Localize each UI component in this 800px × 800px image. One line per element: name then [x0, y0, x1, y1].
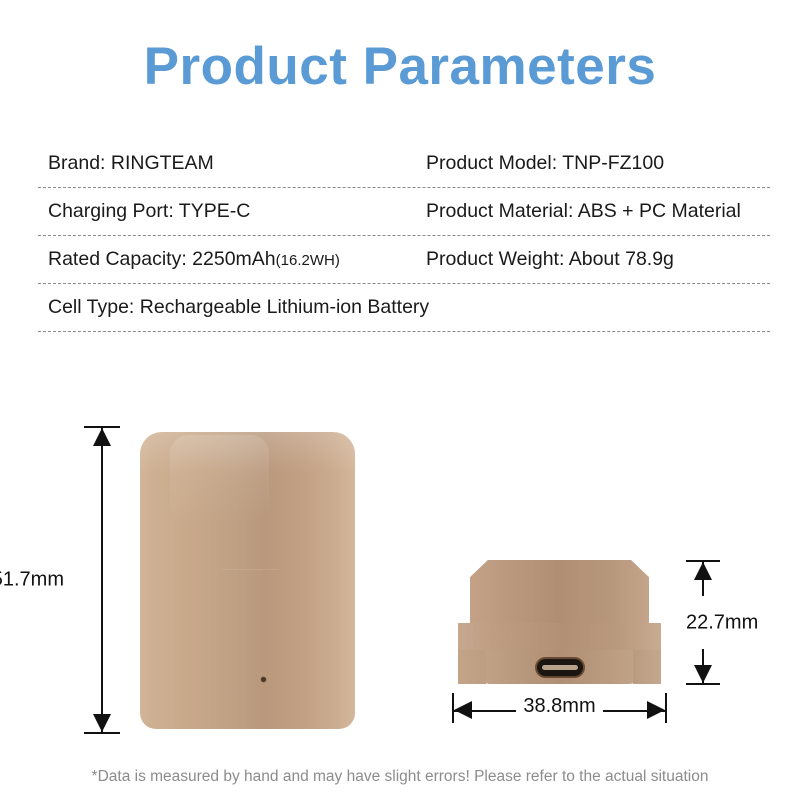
mold-seam	[222, 569, 278, 570]
arrow-up-icon	[694, 562, 712, 580]
dimension-line	[101, 428, 103, 732]
mold-notch	[236, 690, 272, 712]
highlight-glare	[170, 435, 269, 524]
arrow-down-icon	[694, 665, 712, 683]
dimension-depth-label: 22.7mm	[686, 611, 758, 634]
battery-bottom-view	[452, 560, 667, 685]
dimension-height-label: 51.7mm	[0, 569, 64, 592]
table-row: Charging Port: TYPE-C Product Material: …	[38, 188, 770, 236]
product-image-area: 51.7mm 38.8mm 22.7mm	[0, 408, 800, 748]
spec-cell-type: Cell Type: Rechargeable Lithium-ion Batt…	[38, 296, 770, 319]
spec-rated-capacity-wh: (16.2WH)	[276, 252, 340, 269]
footer-disclaimer: *Data is measured by hand and may have s…	[0, 768, 800, 786]
table-row: Cell Type: Rechargeable Lithium-ion Batt…	[38, 284, 770, 332]
spec-brand: Brand: RINGTEAM	[38, 152, 422, 175]
dimension-cap-right	[665, 693, 667, 723]
spec-charging-port: Charging Port: TYPE-C	[38, 200, 422, 223]
page-title: Product Parameters	[0, 36, 800, 97]
pinhole-icon	[261, 677, 266, 682]
spec-table: Brand: RINGTEAM Product Model: TNP-FZ100…	[38, 140, 770, 332]
spec-product-model: Product Model: TNP-FZ100	[422, 152, 770, 175]
dimension-width-label: 38.8mm	[517, 695, 601, 718]
usb-c-port-inner	[542, 665, 578, 670]
arrow-up-icon	[93, 428, 111, 446]
dimension-depth: 22.7mm	[680, 560, 776, 685]
table-row: Rated Capacity: 2250mAh(16.2WH) Product …	[38, 236, 770, 284]
dimension-cap-bottom	[686, 683, 720, 685]
housing-upper	[470, 560, 649, 626]
battery-front-view	[140, 432, 355, 729]
housing-midband	[458, 623, 661, 652]
usb-c-port-icon	[537, 659, 583, 676]
dimension-cap-bottom	[84, 732, 120, 734]
arrow-right-icon	[647, 701, 665, 719]
arrow-left-icon	[454, 701, 472, 719]
table-row: Brand: RINGTEAM Product Model: TNP-FZ100	[38, 140, 770, 188]
spec-rated-capacity: Rated Capacity: 2250mAh(16.2WH)	[38, 248, 422, 271]
spec-product-weight: Product Weight: About 78.9g	[422, 248, 770, 271]
spec-rated-capacity-value: Rated Capacity: 2250mAh	[48, 248, 276, 271]
dimension-width: 38.8mm	[452, 693, 667, 727]
spec-product-material: Product Material: ABS + PC Material	[422, 200, 770, 223]
dimension-height: 51.7mm	[62, 426, 142, 734]
arrow-down-icon	[93, 714, 111, 732]
